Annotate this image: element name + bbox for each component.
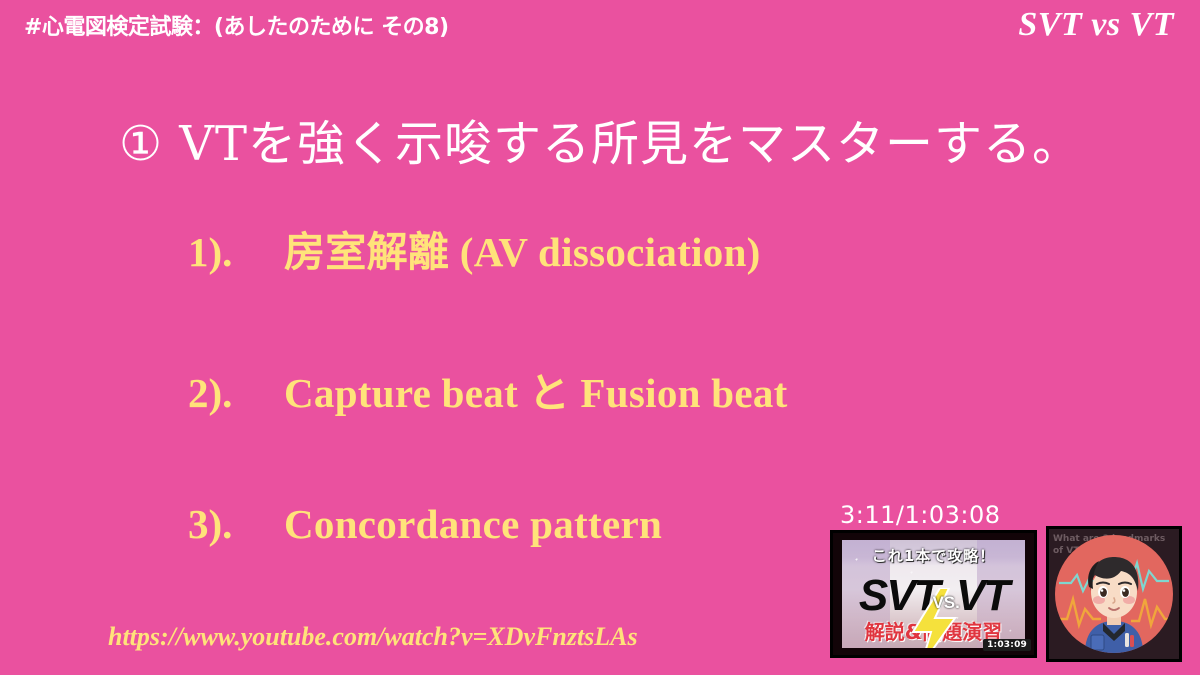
- thumbnail-title-right: VT: [956, 574, 1008, 618]
- hashtag-label: #心電図検定試験：(あしたのために その8): [24, 9, 449, 41]
- page-title: ① VTを強く示唆する所見をマスターする。: [0, 104, 1200, 174]
- list-item-marker: 2).: [188, 369, 284, 417]
- avatar: [1055, 535, 1173, 653]
- thumbnail-artwork: これ1本で攻略！ SVT VS. VT 解説&問題演習: [842, 540, 1025, 648]
- list-item-marker: 3).: [188, 500, 284, 548]
- video-thumbnail[interactable]: これ1本で攻略！ SVT VS. VT 解説&問題演習 1:03:09: [830, 530, 1037, 658]
- avatar-illustration: [1055, 535, 1173, 653]
- thumbnail-title-left: SVT: [859, 574, 939, 618]
- playback-timestamp: 3:11/1:03:08: [840, 501, 1001, 529]
- list-item: 2). Capture beat と Fusion beat: [188, 359, 1068, 419]
- list-item-label: 房室解離 (AV dissociation): [284, 218, 761, 278]
- thumbnail-title-vs: VS.: [932, 593, 959, 613]
- deck-title: SVT vs VT: [1018, 6, 1174, 44]
- thumbnail-tagline: これ1本で攻略！: [842, 545, 1025, 566]
- list-item-label: Concordance pattern: [284, 500, 662, 548]
- list-item-marker: 1).: [188, 228, 284, 276]
- list-item: 1). 房室解離 (AV dissociation): [188, 218, 1068, 278]
- video-url-link[interactable]: https://www.youtube.com/watch?v=XDvFnzts…: [108, 622, 638, 652]
- channel-avatar-thumbnail[interactable]: What are 3 landmarks of VT: [1046, 526, 1182, 662]
- video-duration-badge: 1:03:09: [983, 639, 1031, 651]
- list-item-label: Capture beat と Fusion beat: [284, 359, 788, 419]
- findings-list: 1). 房室解離 (AV dissociation) 2). Capture b…: [188, 218, 1068, 548]
